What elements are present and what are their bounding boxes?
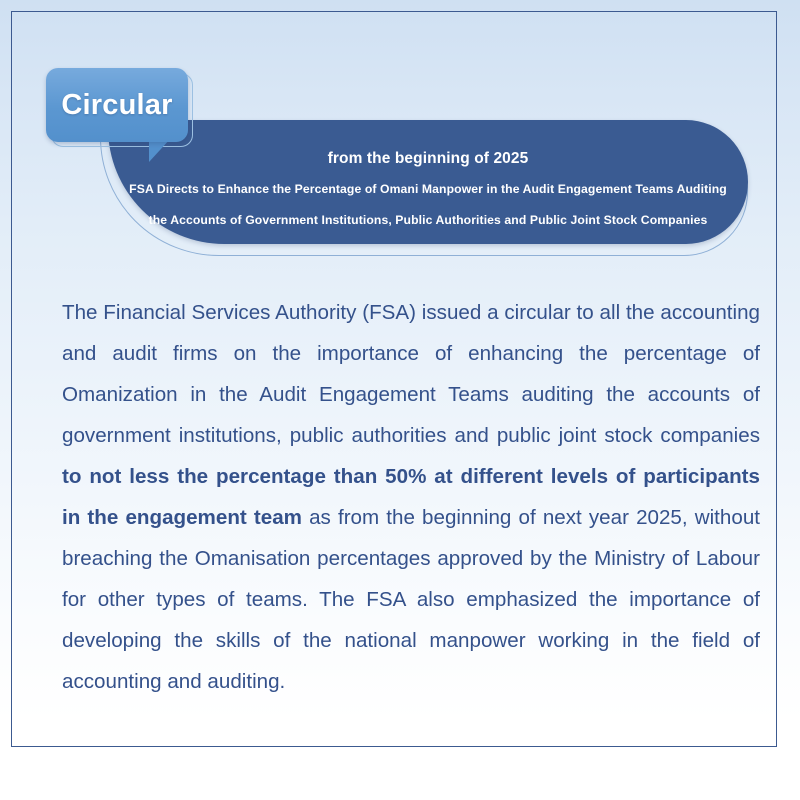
badge-label: Circular — [46, 68, 188, 142]
circular-poster: from the beginning of 2025 FSA Directs t… — [0, 0, 800, 800]
banner-line-1: from the beginning of 2025 — [108, 150, 748, 168]
headline-banner: from the beginning of 2025 FSA Directs t… — [108, 120, 748, 244]
circular-badge: Circular — [46, 68, 188, 142]
body-text: The Financial Services Authority (FSA) i… — [62, 292, 760, 702]
footer: FSA_OMAN New Authority .. New Identity M… — [0, 680, 800, 800]
banner-line-3: the Accounts of Government Institutions,… — [108, 213, 748, 227]
body-text-part1: The Financial Services Authority (FSA) i… — [62, 301, 760, 447]
banner-line-2: FSA Directs to Enhance the Percentage of… — [108, 182, 748, 196]
body-text-part2: as from the beginning of next year 2025,… — [62, 506, 760, 693]
